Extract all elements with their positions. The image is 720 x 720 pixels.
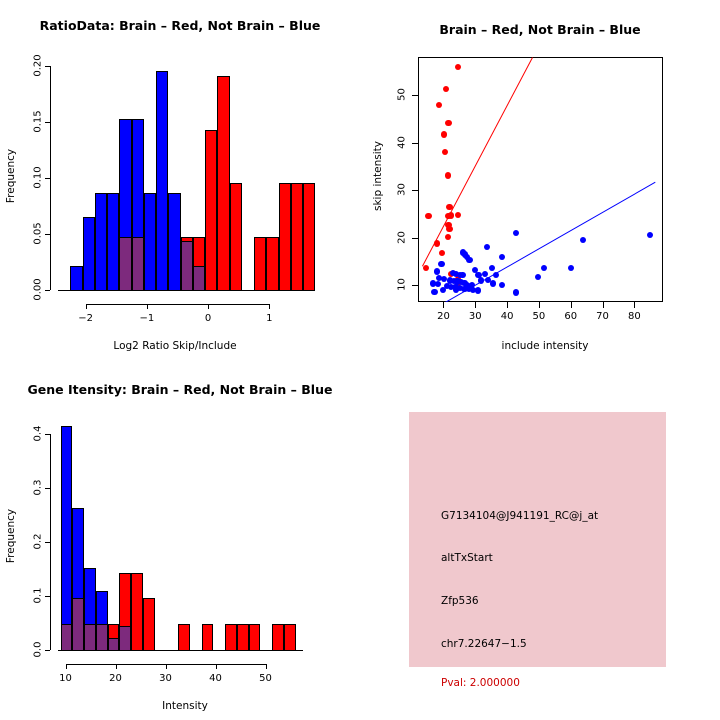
data-point	[513, 289, 519, 295]
hist-bar-not-brain	[61, 426, 73, 651]
x-axis-tick-label: 80	[618, 311, 650, 322]
y-axis-line	[50, 66, 51, 290]
data-point	[475, 287, 481, 293]
y-axis-tick	[45, 122, 50, 123]
hist-bar-not-brain	[156, 71, 168, 291]
hist-bar-brain	[291, 183, 303, 291]
x-axis-tick	[208, 304, 209, 309]
data-point	[435, 281, 441, 287]
x-axis-tick	[507, 302, 508, 308]
x-axis-tick-label: 0	[192, 313, 224, 324]
data-point	[448, 212, 454, 218]
scatter-title: Brain – Red, Not Brain – Blue	[360, 22, 720, 37]
x-axis-tick	[116, 664, 117, 669]
info-gene-symbol: Zfp536	[441, 595, 479, 607]
y-axis-tick-label: 0.4	[33, 416, 44, 450]
panel-gene-intensity-histogram: Gene Itensity: Brain – Red, Not Brain – …	[0, 360, 360, 720]
y-axis-tick-label: 0.2	[33, 524, 44, 558]
x-axis-tick	[66, 664, 67, 669]
x-axis-tick	[147, 304, 148, 309]
scatter-plot-area: 102030405020304050607080	[418, 57, 663, 302]
x-axis-line	[86, 304, 270, 305]
hist-bar-brain	[131, 573, 143, 651]
data-point	[431, 289, 437, 295]
x-axis-tick	[216, 664, 217, 669]
hist-bar-overlap	[72, 598, 84, 651]
y-axis-tick	[45, 66, 50, 67]
hist-bar-brain	[205, 130, 217, 291]
data-point	[442, 149, 448, 155]
data-point	[447, 277, 453, 283]
scatter-ylabel: skip intensity	[372, 141, 384, 211]
y-axis-line	[50, 434, 51, 650]
hist-bar-brain	[279, 183, 291, 291]
hist-bar-brain	[225, 624, 237, 651]
data-point	[443, 86, 449, 92]
y-axis-tick-label: 0.20	[33, 48, 44, 82]
y-axis-tick	[45, 488, 50, 489]
hist-bar-brain	[143, 598, 155, 651]
x-axis-tick	[603, 302, 604, 308]
ratio-histogram-xlabel: Log2 Ratio Skip/Include	[30, 340, 320, 352]
hist-bar-brain	[303, 183, 315, 291]
y-axis-tick-label: 50	[397, 80, 408, 110]
data-point	[445, 172, 451, 178]
hist-bar-overlap	[181, 241, 193, 291]
data-point	[541, 265, 547, 271]
data-point	[647, 232, 653, 238]
y-axis-tick	[45, 290, 50, 291]
hist-bar-overlap	[61, 624, 73, 651]
hist-bar-brain	[272, 624, 284, 651]
hist-bar-brain	[217, 76, 229, 291]
x-axis-tick	[539, 302, 540, 308]
y-axis-tick-label: 40	[397, 127, 408, 157]
y-axis-tick-label: 0.15	[33, 104, 44, 138]
hist-bar-not-brain	[107, 193, 119, 291]
hist-bar-not-brain	[168, 193, 180, 291]
data-point	[499, 254, 505, 260]
y-axis-tick	[45, 434, 50, 435]
hist-bar-overlap	[119, 626, 131, 651]
x-axis-tick-label: 50	[523, 311, 555, 322]
data-point	[455, 64, 461, 70]
info-location: chr7.22647−1.5	[441, 638, 527, 650]
x-axis-tick-label: 1	[253, 313, 285, 324]
scatter-content	[418, 57, 663, 302]
y-axis-tick	[45, 650, 50, 651]
gene-histogram-title: Gene Itensity: Brain – Red, Not Brain – …	[0, 382, 360, 397]
data-point	[446, 226, 452, 232]
hist-bar-brain	[284, 624, 296, 651]
data-point	[445, 234, 451, 240]
data-point	[459, 272, 465, 278]
x-axis-tick	[266, 664, 267, 669]
hist-bar-brain	[230, 183, 242, 291]
x-axis-tick-label: 50	[250, 673, 282, 684]
x-axis-tick	[475, 302, 476, 308]
x-axis-tick	[571, 302, 572, 308]
x-axis-tick	[269, 304, 270, 309]
hist-bar-brain	[202, 624, 214, 651]
x-axis-tick-label: 20	[427, 311, 459, 322]
gene-histogram-ylabel: Frequency	[5, 506, 17, 566]
x-axis-tick-label: 70	[587, 311, 619, 322]
data-point	[466, 257, 472, 263]
hist-bar-not-brain	[83, 217, 95, 291]
panel-ratio-histogram: RatioData: Brain – Red, Not Brain – Blue…	[0, 0, 360, 360]
y-axis-tick-label: 20	[397, 222, 408, 252]
data-point	[446, 204, 452, 210]
y-axis-tick-label: 30	[397, 175, 408, 205]
y-axis-tick-label: 0.00	[33, 273, 44, 307]
info-pval: Pval: 2.000000	[441, 677, 520, 689]
x-axis-tick-label: 20	[100, 673, 132, 684]
data-point	[455, 212, 461, 218]
data-point	[493, 272, 499, 278]
hist-bar-not-brain	[95, 193, 107, 291]
x-axis-tick	[443, 302, 444, 308]
figure-canvas: RatioData: Brain – Red, Not Brain – Blue…	[0, 0, 720, 720]
info-event-type: altTxStart	[441, 552, 493, 564]
hist-bar-overlap	[108, 638, 120, 651]
panel-info: G7134104@J941191_RC@j_at altTxStart Zfp5…	[360, 360, 720, 720]
x-axis-tick-label: 60	[555, 311, 587, 322]
data-point	[482, 271, 488, 277]
hist-bar-brain	[178, 624, 190, 651]
data-point	[484, 244, 490, 250]
data-point	[434, 240, 440, 246]
data-point	[423, 265, 429, 271]
y-axis-tick-label: 0.05	[33, 216, 44, 250]
data-point	[489, 265, 495, 271]
info-box: G7134104@J941191_RC@j_at altTxStart Zfp5…	[409, 412, 666, 667]
hist-bar-overlap	[119, 237, 131, 291]
scatter-xlabel: include intensity	[400, 340, 690, 352]
data-point	[568, 265, 574, 271]
regression-line-not-brain	[445, 182, 656, 302]
y-axis-tick-label: 0.3	[33, 470, 44, 504]
x-axis-tick-label: −2	[70, 313, 102, 324]
data-point	[535, 274, 541, 280]
y-axis-tick-label: 0.0	[33, 633, 44, 667]
x-axis-tick	[86, 304, 87, 309]
hist-bar-brain	[266, 237, 278, 291]
hist-bar-brain	[254, 237, 266, 291]
data-point	[439, 250, 445, 256]
data-point	[478, 277, 484, 283]
data-point	[490, 280, 496, 286]
data-point	[580, 237, 586, 243]
ratio-histogram-plot-area: 0.000.050.100.150.20−2−101	[58, 60, 303, 290]
ratio-histogram-ylabel: Frequency	[5, 146, 17, 206]
hist-bar-overlap	[193, 266, 205, 291]
hist-bar-brain	[249, 624, 261, 651]
hist-bar-overlap	[96, 624, 108, 651]
y-axis-tick	[45, 178, 50, 179]
ratio-histogram-title: RatioData: Brain – Red, Not Brain – Blue	[0, 18, 360, 33]
y-axis-tick-label: 0.10	[33, 160, 44, 194]
x-axis-tick-label: 30	[150, 673, 182, 684]
hist-bar-overlap	[132, 237, 144, 291]
data-point	[499, 282, 505, 288]
gene-histogram-xlabel: Intensity	[40, 700, 330, 712]
data-point	[425, 213, 431, 219]
gene-histogram-plot-area: 0.00.10.20.30.41020304050	[58, 420, 303, 650]
data-point	[438, 261, 444, 267]
data-point	[445, 120, 451, 126]
x-axis-tick-label: 40	[491, 311, 523, 322]
data-point	[513, 230, 519, 236]
hist-bar-brain	[237, 624, 249, 651]
y-axis-tick-label: 10	[397, 270, 408, 300]
hist-bar-not-brain	[144, 193, 156, 291]
hist-bar-not-brain	[70, 266, 82, 291]
x-axis-tick-label: 30	[459, 311, 491, 322]
panel-intensity-scatter: Brain – Red, Not Brain – Blue skip inten…	[360, 0, 720, 360]
y-axis-tick	[45, 542, 50, 543]
y-axis-tick-label: 0.1	[33, 578, 44, 612]
x-axis-tick	[634, 302, 635, 308]
x-axis-tick-label: −1	[131, 313, 163, 324]
data-point	[434, 268, 440, 274]
data-point	[436, 102, 442, 108]
x-axis-tick-label: 40	[200, 673, 232, 684]
data-point	[453, 287, 459, 293]
y-axis-tick	[45, 234, 50, 235]
info-probe-id: G7134104@J941191_RC@j_at	[441, 510, 598, 522]
y-axis-tick	[45, 596, 50, 597]
x-axis-tick-label: 10	[50, 673, 82, 684]
data-point	[475, 272, 481, 278]
data-point	[440, 287, 446, 293]
x-axis-tick	[166, 664, 167, 669]
data-point	[441, 131, 447, 137]
hist-bar-overlap	[84, 624, 96, 651]
